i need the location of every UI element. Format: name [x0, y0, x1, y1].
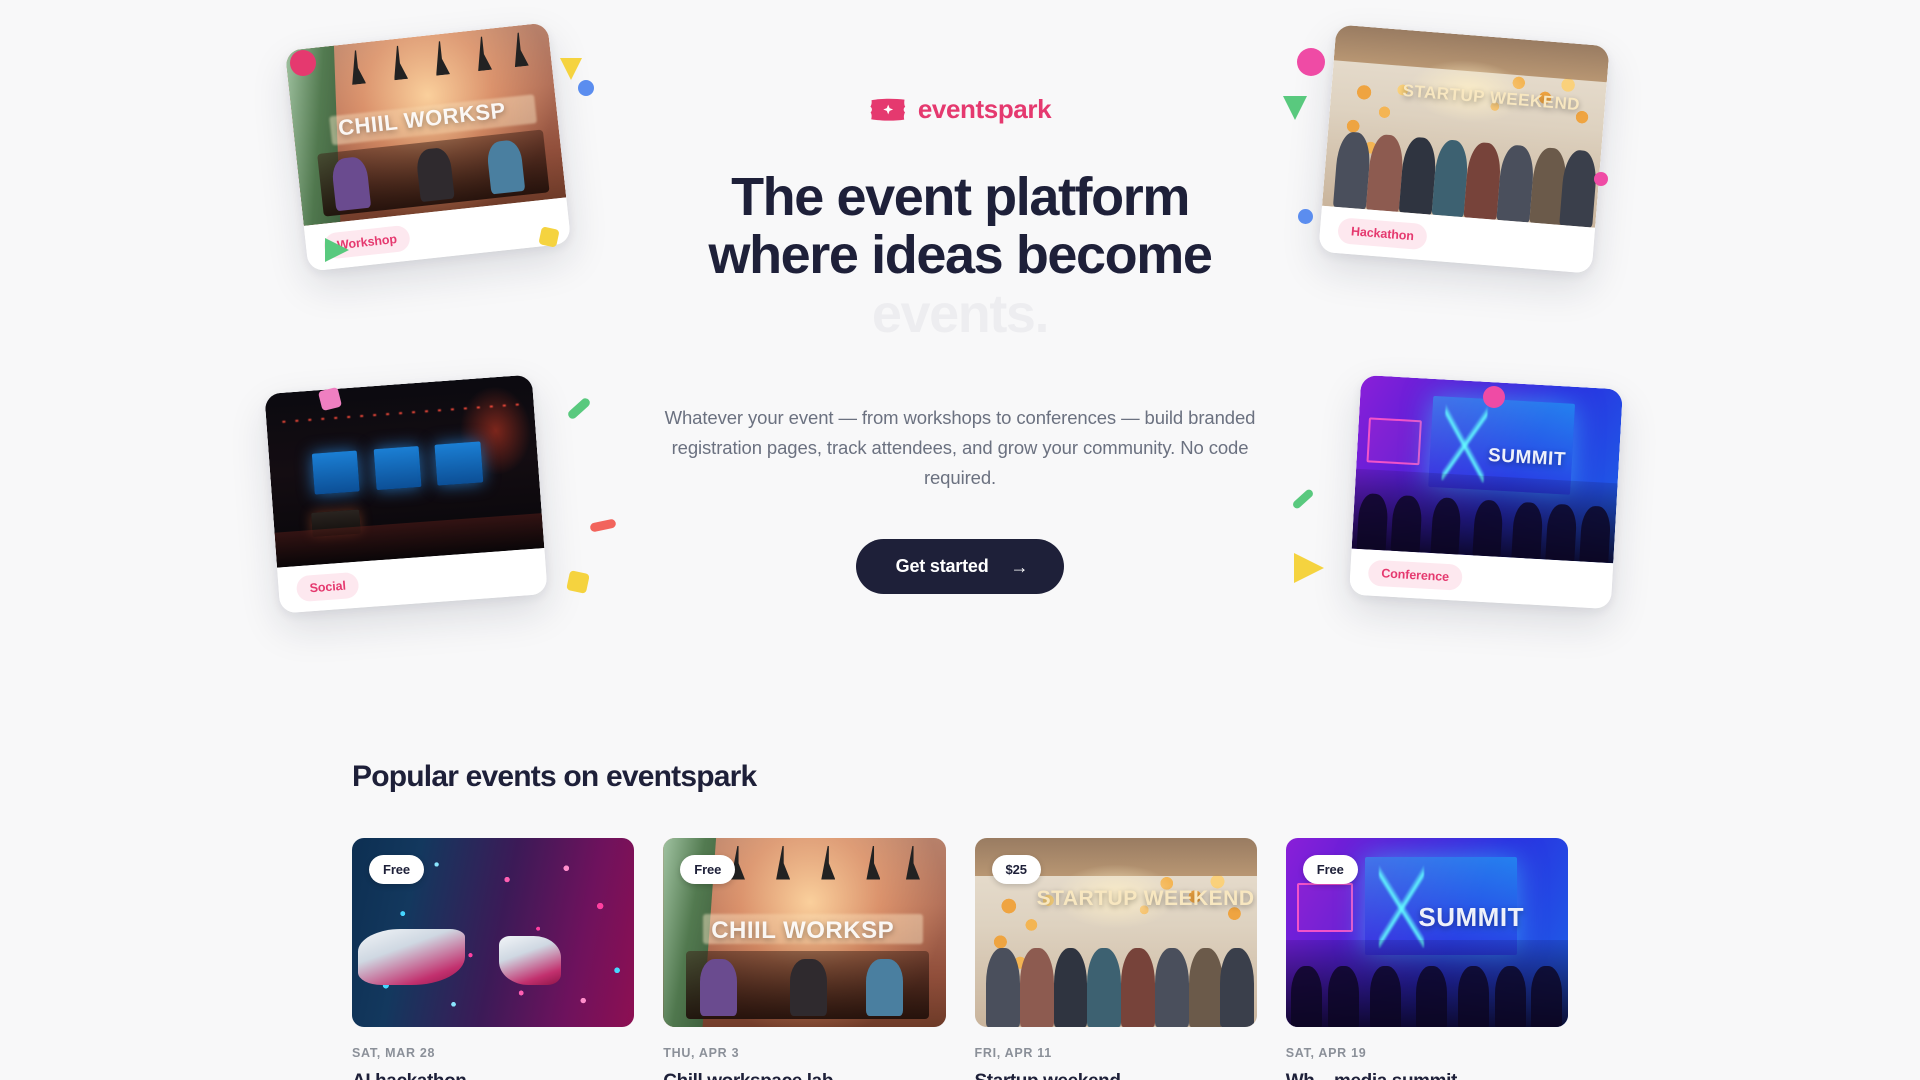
- hero-subcopy: Whatever your event — from workshops to …: [640, 403, 1280, 493]
- event-name: Startup weekend: [975, 1070, 1257, 1080]
- confetti-circle: [1297, 48, 1325, 76]
- brand-logo[interactable]: eventspark: [640, 96, 1280, 122]
- hero-section: CHIIL WORKSP Workshop STARTUP WEEKEND Ha: [0, 0, 1920, 700]
- arrow-right-icon: →: [1011, 558, 1029, 576]
- get-started-label: Get started: [896, 556, 989, 577]
- popular-events-title: Popular events on eventspark: [352, 760, 1568, 794]
- event-name: Wh... media summit: [1286, 1070, 1568, 1080]
- confetti-triangle-right: [1294, 553, 1324, 583]
- event-date: FRI, APR 11: [975, 1046, 1257, 1060]
- confetti-circle: [1298, 209, 1313, 224]
- event-card[interactable]: SUMMIT Free SAT, APR 19 Wh... media summ…: [1286, 838, 1568, 1080]
- card-photo-hackathon: STARTUP WEEKEND: [1322, 24, 1610, 227]
- event-thumbnail: CHIIL WORKSP Free: [663, 838, 945, 1027]
- confetti-dash: [589, 518, 616, 532]
- price-badge: $25: [992, 855, 1041, 884]
- headline-line-1: The event platform: [640, 168, 1280, 226]
- confetti-dash: [566, 396, 591, 420]
- confetti-circle: [578, 80, 594, 96]
- page-title: The event platform where ideas become ev…: [640, 168, 1280, 343]
- floating-card-conference[interactable]: SUMMIT Conference: [1349, 375, 1623, 609]
- brand-name: eventspark: [918, 96, 1051, 122]
- confetti-square: [538, 226, 559, 247]
- card-photo-workshop: CHIIL WORKSP: [285, 22, 566, 225]
- event-thumbnail: SUMMIT Free: [1286, 838, 1568, 1027]
- headline-line-2: where ideas become: [640, 226, 1280, 284]
- floating-card-hackathon[interactable]: STARTUP WEEKEND Hackathon: [1318, 24, 1609, 273]
- confetti-circle: [290, 50, 316, 76]
- popular-events-section: Popular events on eventspark Free SAT, M…: [0, 760, 1920, 1080]
- event-date: SAT, APR 19: [1286, 1046, 1568, 1060]
- confetti-circle: [1594, 172, 1608, 186]
- floating-card-social[interactable]: Social: [264, 374, 547, 613]
- event-card[interactable]: STARTUP WEEKEND $25 FRI, APR 11 Startup …: [975, 838, 1257, 1080]
- floating-card-workshop[interactable]: CHIIL WORKSP Workshop: [285, 22, 571, 271]
- ticket-icon: [869, 97, 907, 122]
- hero-content: eventspark The event platform where idea…: [640, 96, 1280, 594]
- price-badge: Free: [369, 855, 424, 884]
- confetti-triangle-down: [1283, 96, 1307, 120]
- event-thumbnail: STARTUP WEEKEND $25: [975, 838, 1257, 1027]
- confetti-square: [566, 570, 590, 594]
- confetti-dash: [1291, 488, 1314, 510]
- category-badge-hackathon: Hackathon: [1337, 217, 1428, 250]
- headline-line-3: events.: [640, 285, 1280, 343]
- confetti-circle: [1483, 386, 1505, 408]
- event-date: THU, APR 3: [663, 1046, 945, 1060]
- event-card[interactable]: Free SAT, MAR 28 AI hackathon: [352, 838, 634, 1080]
- event-grid: Free SAT, MAR 28 AI hackathon CH: [352, 838, 1568, 1080]
- category-badge-conference: Conference: [1368, 560, 1463, 591]
- price-badge: Free: [680, 855, 735, 884]
- event-card[interactable]: CHIIL WORKSP Free THU, APR 3 Chill works…: [663, 838, 945, 1080]
- price-badge: Free: [1303, 855, 1358, 884]
- landing-page: CHIIL WORKSP Workshop STARTUP WEEKEND Ha: [0, 0, 1920, 1080]
- event-name: AI hackathon: [352, 1070, 634, 1080]
- event-name: Chill workspace lab: [663, 1070, 945, 1080]
- event-thumbnail: Free: [352, 838, 634, 1027]
- event-date: SAT, MAR 28: [352, 1046, 634, 1060]
- confetti-triangle-down: [560, 58, 582, 80]
- card-photo-social: [264, 374, 544, 567]
- get-started-button[interactable]: Get started →: [856, 539, 1065, 594]
- confetti-triangle-right: [325, 238, 349, 262]
- category-badge-social: Social: [296, 572, 360, 602]
